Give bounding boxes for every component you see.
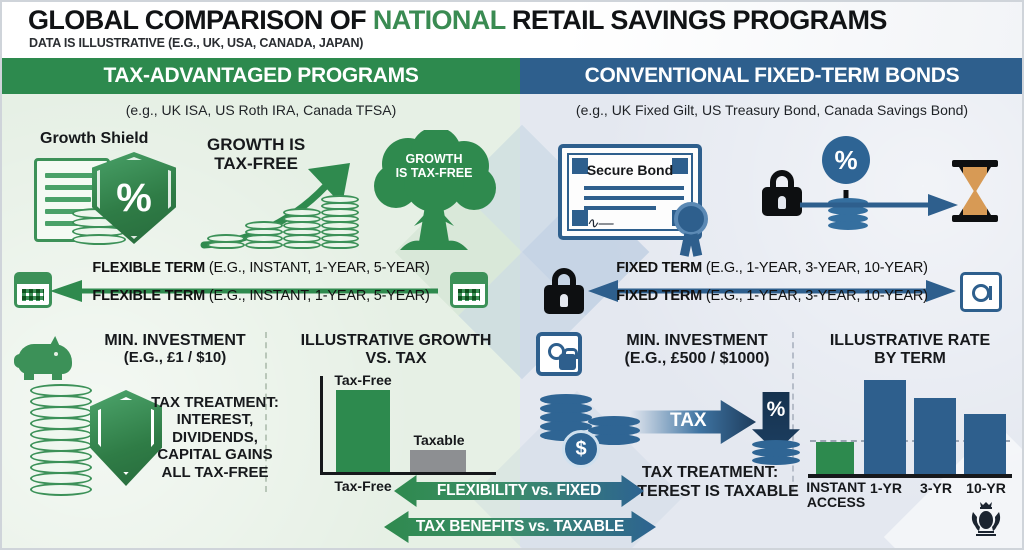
left-panel-subheading: (e.g., UK ISA, US Roth IRA, Canada TFSA) [2, 98, 520, 122]
tax-arrow-label: TAX [670, 410, 707, 432]
left-min-investment-title: MIN. INVESTMENT [80, 332, 270, 350]
chart-x-tick-10-yr: 10-YR [960, 480, 1012, 496]
left-min-investment: MIN. INVESTMENT (E.G., £1 / $10) [80, 332, 270, 367]
growth-caption-line-1: GROWTH IS [207, 135, 305, 154]
fixed-term-label-top: FIXED TERM (E.G., 1-YEAR, 3-YEAR, 10-YEA… [520, 260, 1024, 276]
fixed-term-label-bottom: FIXED TERM (E.G., 1-YEAR, 3-YEAR, 10-YEA… [520, 288, 1024, 304]
padlock-icon [762, 170, 802, 216]
left-min-investment-value: (E.G., £1 / $10) [80, 350, 270, 367]
growth-shield-artwork: % [30, 152, 190, 244]
right-min-investment: MIN. INVESTMENT (E.G., £500 / $1000) [592, 332, 802, 368]
growth-shield-label: Growth Shield [40, 130, 148, 148]
bar-tax-free [336, 390, 390, 472]
piggy-bank-icon [18, 334, 74, 378]
chart-x-tick-tax-free: Tax-Free [320, 478, 406, 494]
title-pre: GLOBAL COMPARISON OF [28, 5, 373, 35]
tree-caption-line-2: IS TAX-FREE [370, 166, 498, 180]
percent-coin-symbol: % [834, 145, 857, 176]
title-highlight: NATIONAL [373, 5, 505, 35]
certificate-title: Secure Bond [562, 162, 698, 178]
flexible-term-bold-bottom: FLEXIBLE TERM [92, 288, 205, 304]
left-tax-treatment: TAX TREATMENT: INTEREST, DIVIDENDS, CAPI… [150, 394, 280, 481]
left-tax-treatment-line: ALL TAX-FREE [150, 464, 280, 481]
chart-x-tick-1-yr: 1-YR [862, 480, 910, 496]
flexible-term-row: FLEXIBLE TERM (E.G., INSTANT, 1-YEAR, 5-… [2, 260, 520, 318]
bar-label-taxable: Taxable [404, 432, 474, 448]
fixed-term-bold-top: FIXED TERM [616, 260, 702, 276]
right-min-investment-title: MIN. INVESTMENT [592, 332, 802, 350]
tick-line-2: ACCESS [798, 495, 874, 510]
left-tax-treatment-line: TAX TREATMENT: [150, 394, 280, 411]
bar-1-yr [864, 380, 906, 474]
bar-label-tax-free: Tax-Free [322, 372, 404, 388]
certificate-icon: Secure Bond ∿— [558, 144, 702, 240]
flexible-term-bold-top: FLEXIBLE TERM [92, 260, 205, 276]
dollar-coin-icon: $ [562, 430, 600, 468]
compare-arrow-flexibility-label: FLEXIBILITY vs. FIXED [437, 482, 601, 500]
title-post: RETAIL SAVINGS PROGRAMS [505, 5, 887, 35]
infographic-canvas: GLOBAL COMPARISON OF NATIONAL RETAIL SAV… [0, 0, 1024, 550]
flexible-term-rest-top: (E.G., INSTANT, 1-YEAR, 5-YEAR) [205, 260, 430, 276]
compare-mid-1: vs. [524, 518, 553, 535]
tree-caption: GROWTH IS TAX-FREE [370, 152, 498, 180]
coin-pile-icon: $ [540, 394, 644, 460]
vault-icon [536, 332, 582, 376]
right-tax-treatment-line: TAX TREATMENT: [600, 464, 820, 483]
taxed-coin-stack-icon [752, 440, 800, 466]
chart-x-tick-3-yr: 3-YR [912, 480, 960, 496]
chart-title-line-1: ILLUSTRATIVE GROWTH [280, 332, 512, 350]
compare-bold-2: TAXABLE [553, 518, 624, 535]
compare-bold-1: TAX BENEFITS [416, 518, 524, 535]
term-timeline-arrow [800, 194, 960, 216]
left-tax-treatment-line: INTEREST, [150, 411, 280, 428]
chart-x-axis [808, 474, 1012, 478]
hourglass-icon [952, 160, 998, 222]
fixed-term-rest-top: (E.G., 1-YEAR, 3-YEAR, 10-YEAR) [702, 260, 928, 276]
page-title: GLOBAL COMPARISON OF NATIONAL RETAIL SAV… [28, 5, 887, 36]
tall-coin-stack-icon [30, 384, 92, 500]
flexible-term-label-bottom: FLEXIBLE TERM (E.G., INSTANT, 1-YEAR, 5-… [2, 288, 520, 304]
signature-icon: ∿— [586, 214, 614, 232]
title-bar: GLOBAL COMPARISON OF NATIONAL RETAIL SAV… [2, 2, 1024, 58]
left-tax-treatment-line: CAPITAL GAINS [150, 446, 280, 463]
shield-percent-symbol: % [116, 176, 152, 221]
chart-title-line-2: VS. TAX [280, 350, 512, 368]
right-panel-subheading: (e.g., UK Fixed Gilt, US Treasury Bond, … [520, 98, 1024, 122]
chart-y-axis [320, 376, 323, 472]
chart-title-line-1: ILLUSTRATIVE RATE [802, 332, 1018, 350]
chart-rate-by-term: ILLUSTRATIVE RATE BY TERM INSTANT ACCESS… [802, 332, 1018, 502]
rosette-icon [674, 202, 708, 236]
percent-coin-icon: % [822, 136, 870, 184]
flexible-term-rest-bottom: (E.G., INSTANT, 1-YEAR, 5-YEAR) [205, 288, 430, 304]
compare-bold-2: FIXED [557, 482, 602, 499]
compare-arrow-tax-benefits-label: TAX BENEFITS vs. TAXABLE [416, 518, 624, 536]
right-panel-heading: CONVENTIONAL FIXED-TERM BONDS [520, 58, 1024, 94]
chart-x-axis [320, 472, 496, 475]
fixed-term-rest-bottom: (E.G., 1-YEAR, 3-YEAR, 10-YEAR) [702, 288, 928, 304]
right-min-investment-value: (E.G., £500 / $1000) [592, 350, 802, 368]
tree-caption-line-1: GROWTH [370, 152, 498, 166]
fixed-term-bold-bottom: FIXED TERM [616, 288, 702, 304]
bar-taxable [410, 450, 466, 472]
compare-bold-1: FLEXIBILITY [437, 482, 528, 499]
tree-icon: GROWTH IS TAX-FREE [370, 130, 498, 254]
left-panel-heading: TAX-ADVANTAGED PROGRAMS [2, 58, 520, 94]
bar-10-yr [964, 414, 1006, 474]
left-tax-treatment-line: DIVIDENDS, [150, 429, 280, 446]
chart-growth-vs-tax: ILLUSTRATIVE GROWTH VS. TAX Tax-Free Tax… [280, 332, 512, 492]
flexible-term-label-top: FLEXIBLE TERM (E.G., INSTANT, 1-YEAR, 5-… [2, 260, 520, 276]
bar-instant-access [816, 442, 854, 474]
fixed-term-row: FIXED TERM (E.G., 1-YEAR, 3-YEAR, 10-YEA… [520, 260, 1024, 318]
coin-stacks-icon [207, 187, 367, 249]
bar-3-yr [914, 398, 956, 474]
page-subtitle: DATA IS ILLUSTRATIVE (E.G., UK, USA, CAN… [29, 36, 363, 50]
chart-title-line-2: BY TERM [802, 350, 1018, 368]
chart-growth-vs-tax-title: ILLUSTRATIVE GROWTH VS. TAX [280, 332, 512, 368]
royal-coat-of-arms-crest [966, 500, 1006, 540]
dollar-symbol: $ [575, 438, 586, 461]
chart-rate-by-term-title: ILLUSTRATIVE RATE BY TERM [802, 332, 1018, 368]
compare-mid-1: vs. [527, 482, 556, 499]
